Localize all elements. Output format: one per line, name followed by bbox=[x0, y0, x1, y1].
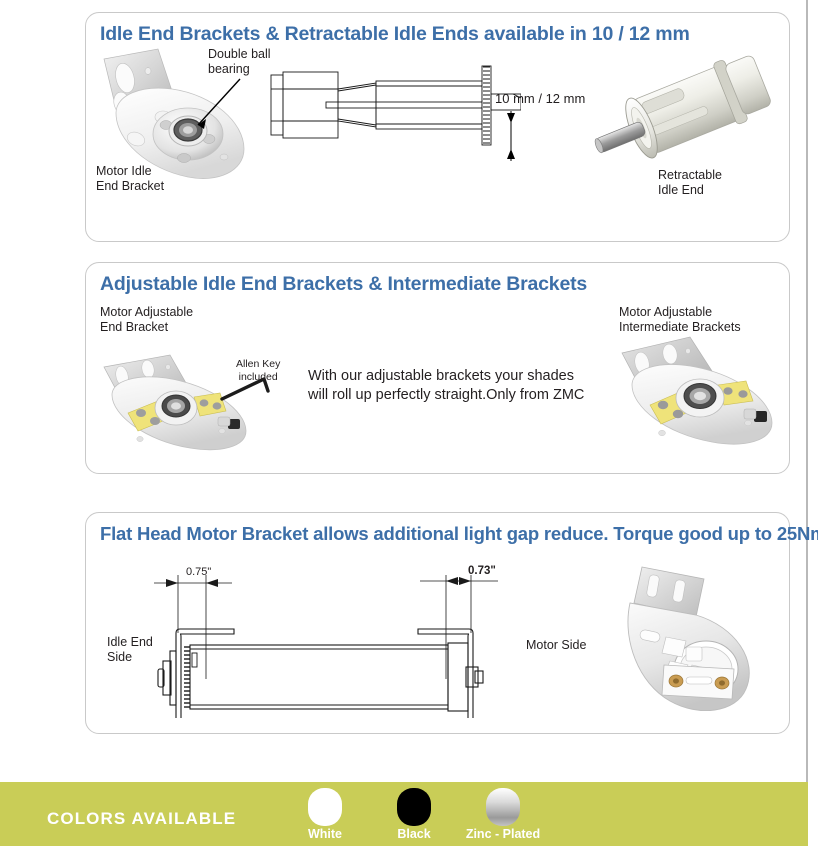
flat-head-motor-bracket-image bbox=[586, 565, 786, 725]
motor-side-label: Motor Side bbox=[526, 638, 586, 653]
motor-adjustable-end-bracket-label: Motor Adjustable End Bracket bbox=[100, 305, 193, 335]
retractable-idle-end-image bbox=[586, 53, 781, 168]
flat-head-bracket-technical-drawing bbox=[146, 575, 506, 725]
dimension-arrow-icon bbox=[504, 109, 518, 163]
panel-adjustable-idle-end-brackets: Adjustable Idle End Brackets & Intermedi… bbox=[85, 262, 790, 474]
idle-end-technical-drawing bbox=[266, 58, 521, 153]
adjustable-brackets-body-text: With our adjustable brackets your shades… bbox=[308, 367, 584, 405]
swatch-zinc-plated[interactable]: Zinc - Plated bbox=[448, 782, 558, 846]
motor-adjustable-intermediate-brackets-label: Motor Adjustable Intermediate Brackets bbox=[619, 305, 741, 335]
page-right-rule bbox=[806, 0, 808, 846]
retractable-idle-end-label: Retractable Idle End bbox=[658, 168, 722, 198]
panel-3-title: Flat Head Motor Bracket allows additiona… bbox=[100, 523, 818, 545]
swatch-black-chip[interactable] bbox=[397, 788, 431, 826]
swatch-zinc-plated-chip[interactable] bbox=[486, 788, 520, 826]
swatch-zinc-plated-label: Zinc - Plated bbox=[448, 827, 558, 841]
idle-end-dimension-label: 10 mm / 12 mm bbox=[495, 91, 585, 106]
panel-2-title: Adjustable Idle End Brackets & Intermedi… bbox=[100, 273, 587, 295]
allen-key-label: Allen Key included bbox=[236, 358, 280, 383]
double-ball-bearing-arrow-icon bbox=[182, 73, 246, 139]
panel-1-title: Idle End Brackets & Retractable Idle End… bbox=[100, 23, 690, 45]
swatch-white-chip[interactable] bbox=[308, 788, 342, 826]
intermediate-bracket-image bbox=[616, 335, 791, 460]
panel-idle-end-brackets: Idle End Brackets & Retractable Idle End… bbox=[85, 12, 790, 242]
colors-available-bar: COLORS AVAILABLE White Black Zinc - Plat… bbox=[0, 782, 808, 846]
product-spec-sheet: Idle End Brackets & Retractable Idle End… bbox=[0, 0, 818, 846]
colors-available-title: COLORS AVAILABLE bbox=[47, 809, 236, 829]
panel-flat-head-motor-bracket: Flat Head Motor Bracket allows additiona… bbox=[85, 512, 790, 734]
motor-idle-end-bracket-label: Motor Idle End Bracket bbox=[96, 164, 164, 194]
